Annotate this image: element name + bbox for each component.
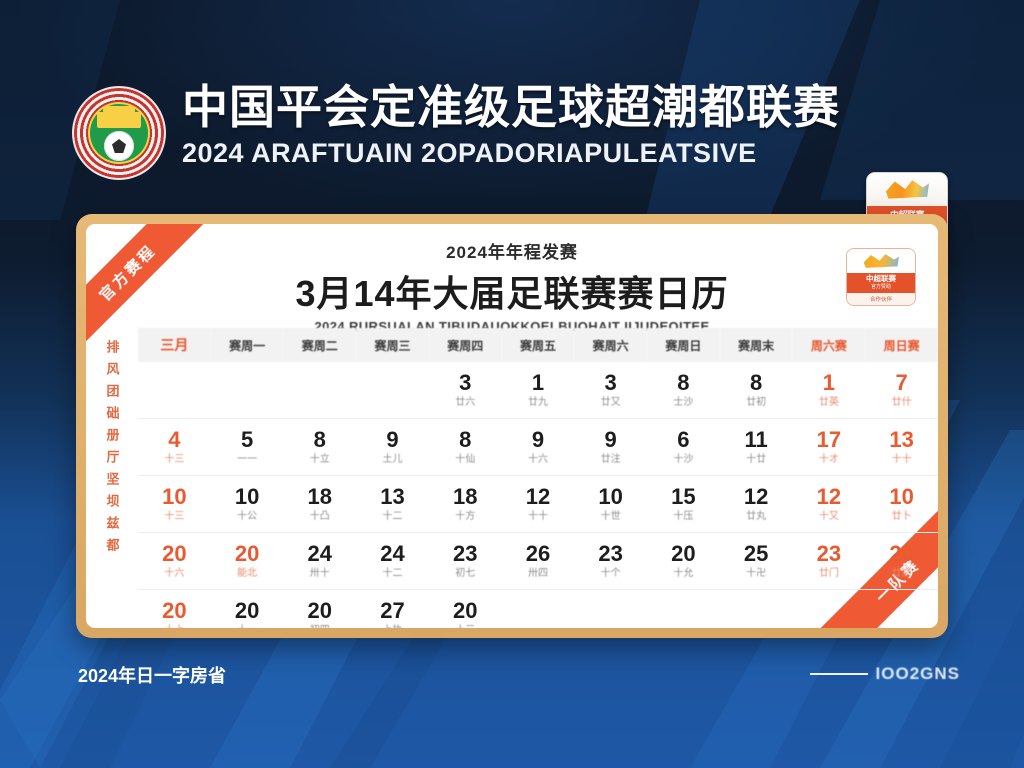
calendar-day-number: 17 xyxy=(793,428,864,452)
calendar-header-row: 三月赛周一赛周二赛周三赛周四赛周五赛周六赛周日赛周末周六赛周日赛 xyxy=(138,328,938,362)
calendar-day-lunar: 十卍 xyxy=(721,567,792,580)
poster-title-en: 2024 ARAFTUAIN 2OPADORIAPULEATSIVE xyxy=(182,136,842,170)
calendar-day-lunar: 十三 xyxy=(139,510,210,523)
calendar-day-lunar: 十二 xyxy=(357,567,428,580)
calendar-day-number: 27 xyxy=(357,599,428,623)
calendar-day-number: 20 xyxy=(212,599,283,623)
calendar-header-cell-8: 赛周末 xyxy=(720,328,793,362)
flame-logo-icon xyxy=(885,180,929,200)
calendar-sponsor-badge[interactable]: 中超联赛 官方赞助 合作伙伴 xyxy=(846,248,916,306)
calendar-day-number: 20 xyxy=(430,599,501,623)
calendar-day-number: 26 xyxy=(503,542,574,566)
calendar-sponsor-line1: 中超联赛 xyxy=(866,275,896,283)
calendar-card-frame: 官方赛程 一队赛 2024年年程发赛 3月14年大届足联赛赛日历 2024 RU… xyxy=(76,214,948,638)
calendar-day-number: 7 xyxy=(866,371,937,395)
calendar-header-cell-3: 赛周三 xyxy=(356,328,429,362)
calendar-day-cell[interactable]: 6十沙 xyxy=(647,419,720,476)
calendar-day-lunar: 初四 xyxy=(284,624,355,628)
calendar-header-cell-6: 赛周六 xyxy=(574,328,647,362)
calendar-header-cell-0: 三月 xyxy=(138,328,211,362)
calendar-day-lunar: 初七 xyxy=(430,567,501,580)
calendar-day-number: 13 xyxy=(866,428,937,452)
calendar-day-number: 10 xyxy=(139,485,210,509)
calendar-day-cell[interactable]: 20十允 xyxy=(647,533,720,590)
calendar-day-cell[interactable]: 24卅十 xyxy=(283,533,356,590)
footer-divider-line xyxy=(810,673,868,675)
calendar-day-lunar: 廿又 xyxy=(575,396,646,409)
calendar-day-lunar: 十オ xyxy=(793,453,864,466)
calendar-week-row: 20十六20能北24卅十24十二23初七26卅四23十个20十允25十卍23廿门… xyxy=(138,533,938,590)
calendar-empty-cell xyxy=(792,590,865,629)
calendar-grid-wrap: 排风团础册厅坚坝兹都 三月赛周一赛周二赛周三赛周四赛周五赛周六赛周日赛周末周六赛… xyxy=(86,328,938,628)
calendar-day-number: 18 xyxy=(430,485,501,509)
calendar-vertical-label-text: 排风团础册厅坚坝兹都 xyxy=(103,340,122,560)
calendar-day-cell[interactable]: 10十三 xyxy=(138,476,211,533)
calendar-day-cell[interactable]: 8士沙 xyxy=(647,362,720,419)
calendar-day-number: 24 xyxy=(284,542,355,566)
calendar-day-number: 20 xyxy=(284,599,355,623)
calendar-empty-cell xyxy=(865,590,938,629)
calendar-day-number: 20 xyxy=(139,542,210,566)
calendar-day-cell[interactable]: 1廿英 xyxy=(792,362,865,419)
calendar-day-cell[interactable]: 8廿初 xyxy=(720,362,793,419)
calendar-day-lunar: 十凸 xyxy=(284,510,355,523)
calendar-day-cell[interactable]: 11十廿 xyxy=(720,419,793,476)
calendar-day-number: 9 xyxy=(503,428,574,452)
calendar-day-lunar: 士沙 xyxy=(648,396,719,409)
calendar-day-cell[interactable]: 9廿注 xyxy=(574,419,647,476)
calendar-day-number: 3 xyxy=(575,371,646,395)
calendar-day-lunar: 卅四 xyxy=(503,567,574,580)
calendar-day-lunar: 能北 xyxy=(212,567,283,580)
calendar-day-number: 5 xyxy=(212,428,283,452)
calendar-day-cell[interactable]: 9十六 xyxy=(502,419,575,476)
calendar-day-number: 10 xyxy=(212,485,283,509)
calendar-day-cell[interactable]: 26卅四 xyxy=(502,533,575,590)
calendar-day-lunar: 廿丸 xyxy=(721,510,792,523)
calendar-day-number: 15 xyxy=(648,485,719,509)
calendar-vertical-label: 排风团础册厅坚坝兹都 xyxy=(86,328,138,628)
calendar-day-cell[interactable]: 17十オ xyxy=(792,419,865,476)
calendar-sponsor-logo-area xyxy=(847,249,915,273)
calendar-sponsor-line2: 官方赞助 xyxy=(871,283,891,291)
calendar-day-lunar: 十三 xyxy=(139,453,210,466)
calendar-day-cell[interactable]: 10廿卜 xyxy=(865,476,938,533)
calendar-day-lunar: 廿六 xyxy=(430,396,501,409)
calendar-day-cell[interactable]: 12廿丸 xyxy=(720,476,793,533)
calendar-day-lunar: 卅十 xyxy=(284,567,355,580)
cfa-crest-icon xyxy=(72,86,166,180)
calendar-day-lunar: 十又 xyxy=(793,510,864,523)
calendar-day-number: 10 xyxy=(866,485,937,509)
crest-football-icon xyxy=(104,131,134,161)
calendar-day-number: 9 xyxy=(357,428,428,452)
poster-header: 中国平会定准级足球超潮都联赛 2024 ARAFTUAIN 2OPADORIAP… xyxy=(0,78,1024,190)
calendar-empty-cell xyxy=(647,590,720,629)
calendar-day-cell[interactable]: 20十六 xyxy=(138,533,211,590)
calendar-day-cell[interactable]: 20十三 xyxy=(429,590,502,629)
calendar-day-cell[interactable]: 18十凸 xyxy=(283,476,356,533)
crest-emblem-icon xyxy=(88,102,150,164)
calendar-day-lunar: 十六 xyxy=(139,567,210,580)
calendar-header-cell-7: 赛周日 xyxy=(647,328,720,362)
calendar-day-number: 8 xyxy=(721,371,792,395)
calendar-day-number: 8 xyxy=(284,428,355,452)
calendar-day-lunar: 廿九 xyxy=(503,396,574,409)
calendar-day-cell[interactable]: 4十三 xyxy=(138,419,211,476)
calendar-table: 三月赛周一赛周二赛周三赛周四赛周五赛周六赛周日赛周末周六赛周日赛 3廿六1廿九3… xyxy=(138,328,938,628)
calendar-day-cell[interactable]: 23初七 xyxy=(429,533,502,590)
calendar-empty-cell xyxy=(211,362,284,419)
calendar-day-lunar: 十六 xyxy=(503,453,574,466)
calendar-day-number: 1 xyxy=(503,371,574,395)
calendar-day-number: 12 xyxy=(503,485,574,509)
calendar-day-cell[interactable]: 10十公 xyxy=(211,476,284,533)
calendar-empty-cell xyxy=(138,362,211,419)
calendar-day-cell[interactable]: 8十仙 xyxy=(429,419,502,476)
calendar-day-cell[interactable]: 3廿又 xyxy=(574,362,647,419)
calendar-title-block: 2024年年程发赛 3月14年大届足联赛赛日历 2024 RURSUALAN T… xyxy=(86,224,938,340)
calendar-day-lunar: 十一 xyxy=(212,624,283,628)
calendar-day-cell[interactable]: 13十二 xyxy=(356,476,429,533)
calendar-day-lunar: 十二 xyxy=(357,510,428,523)
calendar-day-number: 18 xyxy=(284,485,355,509)
calendar-day-number: 10 xyxy=(575,485,646,509)
calendar-day-number: 3 xyxy=(430,371,501,395)
calendar-day-number: 4 xyxy=(139,428,210,452)
calendar-day-lunar: 土儿 xyxy=(357,453,428,466)
calendar-day-lunar: 十个 xyxy=(575,567,646,580)
calendar-day-number: 9 xyxy=(575,428,646,452)
calendar-day-number: 6 xyxy=(648,428,719,452)
calendar-day-number: 1 xyxy=(793,371,864,395)
calendar-day-lunar: 十沙 xyxy=(648,453,719,466)
calendar-empty-cell xyxy=(356,362,429,419)
calendar-day-cell[interactable]: 18十方 xyxy=(429,476,502,533)
calendar-day-lunar: 廿卜 xyxy=(866,510,937,523)
calendar-day-lunar: 十世 xyxy=(575,510,646,523)
calendar-empty-cell xyxy=(283,362,356,419)
calendar-day-lunar: 廿英 xyxy=(793,396,864,409)
calendar-day-number: 8 xyxy=(430,428,501,452)
calendar-day-lunar: 十允 xyxy=(648,567,719,580)
calendar-day-number: 11 xyxy=(721,428,792,452)
calendar-day-lunar: 上执 xyxy=(357,624,428,628)
calendar-day-number: 23 xyxy=(793,542,864,566)
calendar-day-lunar: 十十 xyxy=(503,510,574,523)
calendar-day-cell[interactable]: 5一一 xyxy=(211,419,284,476)
title-block: 中国平会定准级足球超潮都联赛 2024 ARAFTUAIN 2OPADORIAP… xyxy=(182,78,842,170)
calendar-day-cell[interactable]: 24十二 xyxy=(356,533,429,590)
calendar-day-lunar: 十方 xyxy=(430,510,501,523)
calendar-day-number: 20 xyxy=(866,542,937,566)
calendar-day-lunar: 十立 xyxy=(284,453,355,466)
crest-gate-icon xyxy=(97,112,141,128)
calendar-day-cell[interactable]: 10十世 xyxy=(574,476,647,533)
calendar-week-row: 4十三5一一8十立9土儿8十仙9十六9廿注6十沙11十廿17十オ13十十 xyxy=(138,419,938,476)
calendar-header-cell-10: 周日赛 xyxy=(865,328,938,362)
calendar-day-number: 20 xyxy=(212,542,283,566)
calendar-header-cell-1: 赛周一 xyxy=(211,328,284,362)
calendar-day-lunar: 一一 xyxy=(212,453,283,466)
footer-right-text: IOO2GNS xyxy=(876,664,960,684)
flame-logo-icon xyxy=(863,254,899,269)
calendar-day-cell[interactable]: 20十一 xyxy=(211,590,284,629)
calendar-body: 3廿六1廿九3廿又8士沙8廿初1廿英7廿什4十三5一一8十立9土儿8十仙9十六9… xyxy=(138,362,938,628)
calendar-day-number: 24 xyxy=(357,542,428,566)
calendar-header-cell-9: 周六赛 xyxy=(792,328,865,362)
sponsor-logo-area xyxy=(867,173,947,206)
calendar-day-lunar: 十廿 xyxy=(721,453,792,466)
calendar-kicker: 2024年年程发赛 xyxy=(86,238,938,263)
calendar-day-lunar: 十压 xyxy=(648,510,719,523)
calendar-empty-cell xyxy=(720,590,793,629)
calendar-sponsor-line3: 合作伙伴 xyxy=(847,293,915,305)
calendar-empty-cell xyxy=(502,590,575,629)
calendar-day-number: 20 xyxy=(648,542,719,566)
calendar-day-lunar: 十上 xyxy=(139,624,210,628)
calendar-day-cell[interactable]: 20廿之 xyxy=(865,533,938,590)
calendar-day-lunar: 十十 xyxy=(866,453,937,466)
calendar-day-number: 13 xyxy=(357,485,428,509)
calendar-day-cell[interactable]: 27上执 xyxy=(356,590,429,629)
calendar-day-cell[interactable]: 25十卍 xyxy=(720,533,793,590)
calendar-day-number: 23 xyxy=(430,542,501,566)
calendar-main-title: 3月14年大届足联赛赛日历 xyxy=(86,265,938,317)
calendar-empty-cell xyxy=(574,590,647,629)
footer-right-block: IOO2GNS xyxy=(810,664,960,684)
calendar-day-cell[interactable]: 12十又 xyxy=(792,476,865,533)
calendar-day-lunar: 十三 xyxy=(430,624,501,628)
calendar-day-lunar: 廿注 xyxy=(575,453,646,466)
calendar-day-cell[interactable]: 15十压 xyxy=(647,476,720,533)
calendar-header-cell-2: 赛周二 xyxy=(283,328,356,362)
calendar-day-lunar: 廿之 xyxy=(866,567,937,580)
calendar-day-lunar: 十公 xyxy=(212,510,283,523)
calendar-day-cell[interactable]: 20初四 xyxy=(283,590,356,629)
calendar-day-number: 12 xyxy=(793,485,864,509)
calendar-day-lunar: 廿初 xyxy=(721,396,792,409)
calendar-day-number: 8 xyxy=(648,371,719,395)
calendar-card: 官方赛程 一队赛 2024年年程发赛 3月14年大届足联赛赛日历 2024 RU… xyxy=(86,224,938,628)
calendar-day-cell[interactable]: 23十个 xyxy=(574,533,647,590)
calendar-day-cell[interactable]: 8十立 xyxy=(283,419,356,476)
calendar-head: 三月赛周一赛周二赛周三赛周四赛周五赛周六赛周日赛周末周六赛周日赛 xyxy=(138,328,938,362)
calendar-day-cell[interactable]: 20能北 xyxy=(211,533,284,590)
calendar-sponsor-name-area: 中超联赛 官方赞助 xyxy=(847,273,915,293)
calendar-header-cell-4: 赛周四 xyxy=(429,328,502,362)
calendar-week-row: 10十三10十公18十凸13十二18十方12十十10十世15十压12廿丸12十又… xyxy=(138,476,938,533)
calendar-day-lunar: 廿门 xyxy=(793,567,864,580)
poster-title-cn: 中国平会定准级足球超潮都联赛 xyxy=(182,78,842,136)
calendar-day-lunar: 廿什 xyxy=(866,396,937,409)
calendar-day-cell[interactable]: 1廿九 xyxy=(502,362,575,419)
calendar-day-cell[interactable]: 20十上 xyxy=(138,590,211,629)
calendar-day-cell[interactable]: 7廿什 xyxy=(865,362,938,419)
footer-left-text: 2024年日一字房省 xyxy=(78,662,226,688)
calendar-day-number: 23 xyxy=(575,542,646,566)
calendar-day-cell[interactable]: 12十十 xyxy=(502,476,575,533)
calendar-day-lunar: 十仙 xyxy=(430,453,501,466)
calendar-day-number: 12 xyxy=(721,485,792,509)
calendar-header-cell-5: 赛周五 xyxy=(502,328,575,362)
poster-root: 中国平会定准级足球超潮都联赛 2024 ARAFTUAIN 2OPADORIAP… xyxy=(0,0,1024,768)
calendar-day-cell[interactable]: 9土儿 xyxy=(356,419,429,476)
calendar-day-cell[interactable]: 23廿门 xyxy=(792,533,865,590)
calendar-week-row: 20十上20十一20初四27上执20十三 xyxy=(138,590,938,629)
calendar-day-number: 20 xyxy=(139,599,210,623)
calendar-day-cell[interactable]: 13十十 xyxy=(865,419,938,476)
calendar-week-row: 3廿六1廿九3廿又8士沙8廿初1廿英7廿什 xyxy=(138,362,938,419)
calendar-day-cell[interactable]: 3廿六 xyxy=(429,362,502,419)
calendar-day-number: 25 xyxy=(721,542,792,566)
